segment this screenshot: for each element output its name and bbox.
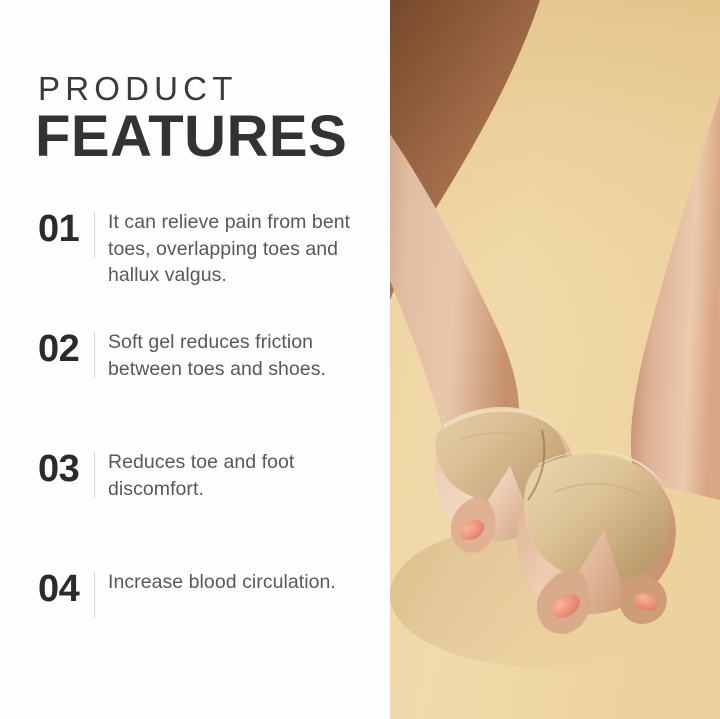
feature-number: 03 — [38, 450, 94, 490]
list-item: 03 Reduces toe and foot discomfort. — [38, 448, 368, 568]
product-features-poster: PRODUCT FEATURES 01 It can relieve pain … — [0, 0, 720, 719]
feature-number: 02 — [38, 330, 94, 370]
feature-text: Increase blood circulation. — [108, 568, 336, 596]
feature-divider — [94, 572, 95, 618]
product-photo — [390, 0, 720, 719]
feature-text: Soft gel reduces friction between toes a… — [108, 328, 368, 382]
feature-text: It can relieve pain from bent toes, over… — [108, 208, 368, 289]
feature-divider — [94, 332, 95, 378]
list-item: 01 It can relieve pain from bent toes, o… — [38, 208, 368, 328]
title-top-line: PRODUCT — [38, 72, 347, 105]
feature-number: 04 — [38, 570, 94, 610]
feature-divider — [94, 452, 95, 498]
product-photo-illustration — [390, 0, 720, 719]
feature-number: 01 — [38, 210, 94, 250]
page-title: PRODUCT FEATURES — [38, 72, 347, 166]
list-item: 04 Increase blood circulation. — [38, 568, 368, 688]
feature-divider — [94, 212, 95, 258]
feature-text: Reduces toe and foot discomfort. — [108, 448, 368, 502]
list-item: 02 Soft gel reduces friction between toe… — [38, 328, 368, 448]
feature-list: 01 It can relieve pain from bent toes, o… — [38, 208, 368, 688]
title-main-line: FEATURES — [35, 107, 347, 166]
text-panel: PRODUCT FEATURES 01 It can relieve pain … — [0, 0, 390, 719]
